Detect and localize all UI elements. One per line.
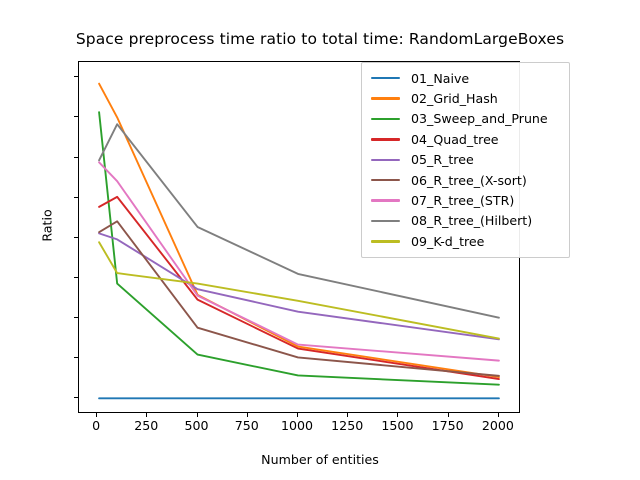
legend-label: 02_Grid_Hash (411, 91, 498, 106)
x-tick-label: 750 (235, 418, 259, 433)
legend-label: 03_Sweep_and_Prune (411, 111, 548, 126)
legend-item[interactable]: 07_R_tree_(STR) (362, 190, 569, 210)
x-tick-label: 0 (92, 418, 100, 433)
legend-label: 07_R_tree_(STR) (411, 193, 514, 208)
x-axis-label: Number of entities (0, 452, 640, 467)
legend-label: 04_Quad_tree (411, 132, 499, 147)
x-tick-label: 1000 (281, 418, 313, 433)
x-tick-label: 1750 (432, 418, 464, 433)
chart-legend[interactable]: 01_Naive02_Grid_Hash03_Sweep_and_Prune04… (361, 62, 570, 258)
legend-label: 05_R_tree (411, 152, 474, 167)
legend-item[interactable]: 06_R_tree_(X-sort) (362, 170, 569, 190)
legend-item[interactable]: 02_Grid_Hash (362, 88, 569, 108)
legend-swatch-icon (371, 199, 400, 201)
legend-swatch-icon (371, 179, 400, 181)
legend-swatch-icon (371, 118, 400, 120)
legend-item[interactable]: 05_R_tree (362, 150, 569, 170)
chart-title: Space preprocess time ratio to total tim… (0, 30, 640, 48)
legend-swatch-icon (371, 138, 400, 140)
y-axis-label: Ratio (40, 166, 55, 286)
legend-swatch-icon (371, 240, 400, 242)
legend-item[interactable]: 08_R_tree_(Hilbert) (362, 211, 569, 231)
x-tick-label: 1250 (331, 418, 363, 433)
legend-label: 09_K-d_tree (411, 234, 484, 249)
x-tick-label: 250 (134, 418, 158, 433)
legend-swatch-icon (371, 159, 400, 161)
legend-swatch-icon (371, 220, 400, 222)
legend-item[interactable]: 01_Naive (362, 68, 569, 88)
x-tick-label: 500 (185, 418, 209, 433)
legend-item[interactable]: 03_Sweep_and_Prune (362, 109, 569, 129)
legend-swatch-icon (371, 97, 400, 99)
legend-label: 01_Naive (411, 71, 469, 86)
x-tick-label: 2000 (482, 418, 514, 433)
legend-swatch-icon (371, 77, 400, 79)
legend-item[interactable]: 04_Quad_tree (362, 129, 569, 149)
legend-item[interactable]: 09_K-d_tree (362, 231, 569, 251)
x-tick-label: 1500 (381, 418, 413, 433)
legend-label: 06_R_tree_(X-sort) (411, 173, 527, 188)
figure-canvas: Space preprocess time ratio to total tim… (0, 0, 640, 480)
legend-label: 08_R_tree_(Hilbert) (411, 213, 532, 228)
